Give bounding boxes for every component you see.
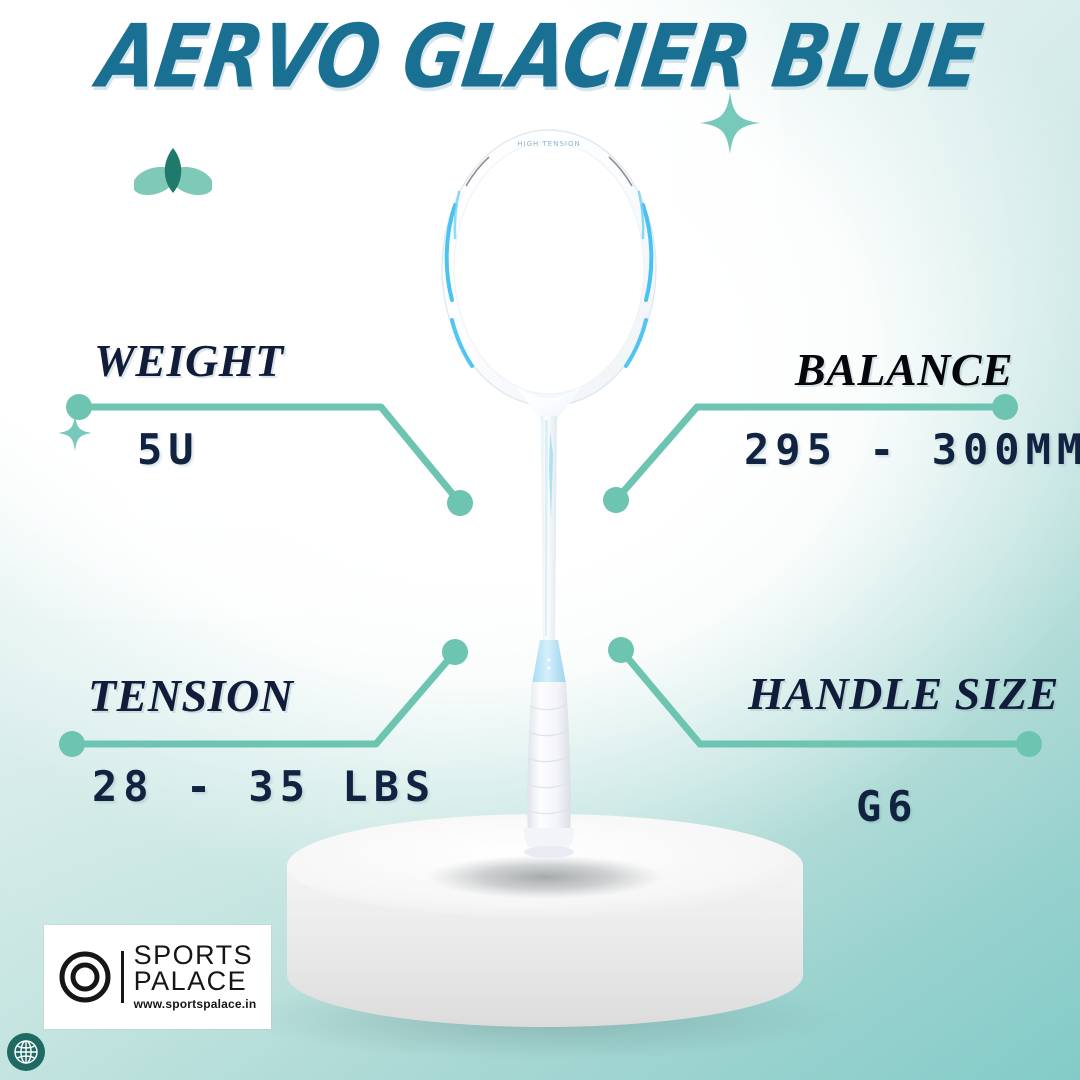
globe-icon — [6, 1032, 46, 1072]
spec-value-handle-size: G6 — [856, 782, 919, 831]
product-spec-poster: AERVO GLACIER BLUE — [0, 0, 1080, 1080]
connector-dot-weight-start — [66, 394, 92, 420]
connector-dot-handle-start — [1016, 731, 1042, 757]
spec-connector-lines — [0, 0, 1080, 1080]
spec-label-handle-size: HANDLE SIZE — [748, 667, 1059, 720]
connector-dot-handle-end — [608, 637, 634, 663]
connector-dot-balance-end — [603, 487, 629, 513]
brand-logo: SPORTS PALACE www.sportspalace.in — [44, 925, 271, 1029]
spec-label-weight: WEIGHT — [94, 334, 284, 387]
connector-dot-balance-start — [992, 394, 1018, 420]
spec-label-balance: BALANCE — [795, 343, 1013, 396]
spec-value-balance: 295 - 300MM — [744, 425, 1080, 474]
connector-dot-weight-end — [447, 490, 473, 516]
logo-line-2: PALACE — [134, 969, 257, 995]
spec-value-tension: 28 - 35 LBS — [92, 762, 436, 811]
spec-value-weight: 5U — [137, 425, 200, 474]
connector-dot-tension-end — [442, 639, 468, 665]
sports-palace-ring-icon — [59, 951, 111, 1003]
logo-divider — [121, 951, 124, 1003]
connector-dot-tension-start — [59, 731, 85, 757]
logo-website: www.sportspalace.in — [134, 999, 257, 1011]
spec-label-tension: TENSION — [88, 669, 293, 722]
